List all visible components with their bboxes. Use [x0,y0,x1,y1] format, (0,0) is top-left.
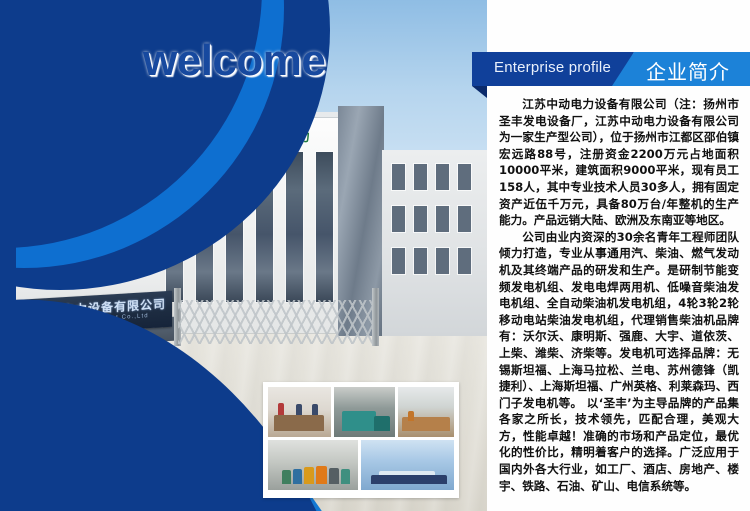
ribbon-english-label: Enterprise profile [494,59,611,76]
profile-paragraph-2: 公司由业内资深的30余名青年工程师团队倾力打造，专业从事通用汽、柴油、燃气发动机… [499,229,739,495]
hero-banner: 中动电力 江苏中动电力设备有限公司 Zhon [0,0,487,511]
company-profile-text: 江苏中动电力设备有限公司（注：扬州市圣丰发电设备厂，江苏中动电力设备有限公司为一… [499,96,739,494]
gate-post-right [372,288,379,346]
profile-paragraph-1: 江苏中动电力设备有限公司（注：扬州市圣丰发电设备厂，江苏中动电力设备有限公司为一… [499,96,739,229]
photo-collage [263,382,459,498]
welcome-heading: welcome [143,36,325,86]
generator-workshop-photo [334,387,396,437]
office-staff-photo [398,387,454,437]
section-ribbon: Enterprise profile 企业简介 [472,52,750,86]
page-root: 中动电力 江苏中动电力设备有限公司 Zhon [0,0,750,511]
meeting-room-photo [268,387,331,437]
retractable-gate [178,300,374,344]
ribbon-chinese-label: 企业简介 [646,56,730,85]
enterprise-profile-panel: Enterprise profile 企业简介 江苏中动电力设备有限公司（注：扬… [487,0,750,511]
left-edge-bar [0,0,16,511]
generator-assembly-line-photo [268,440,358,490]
conference-hall-photo [361,440,454,490]
right-side-building [382,150,487,336]
